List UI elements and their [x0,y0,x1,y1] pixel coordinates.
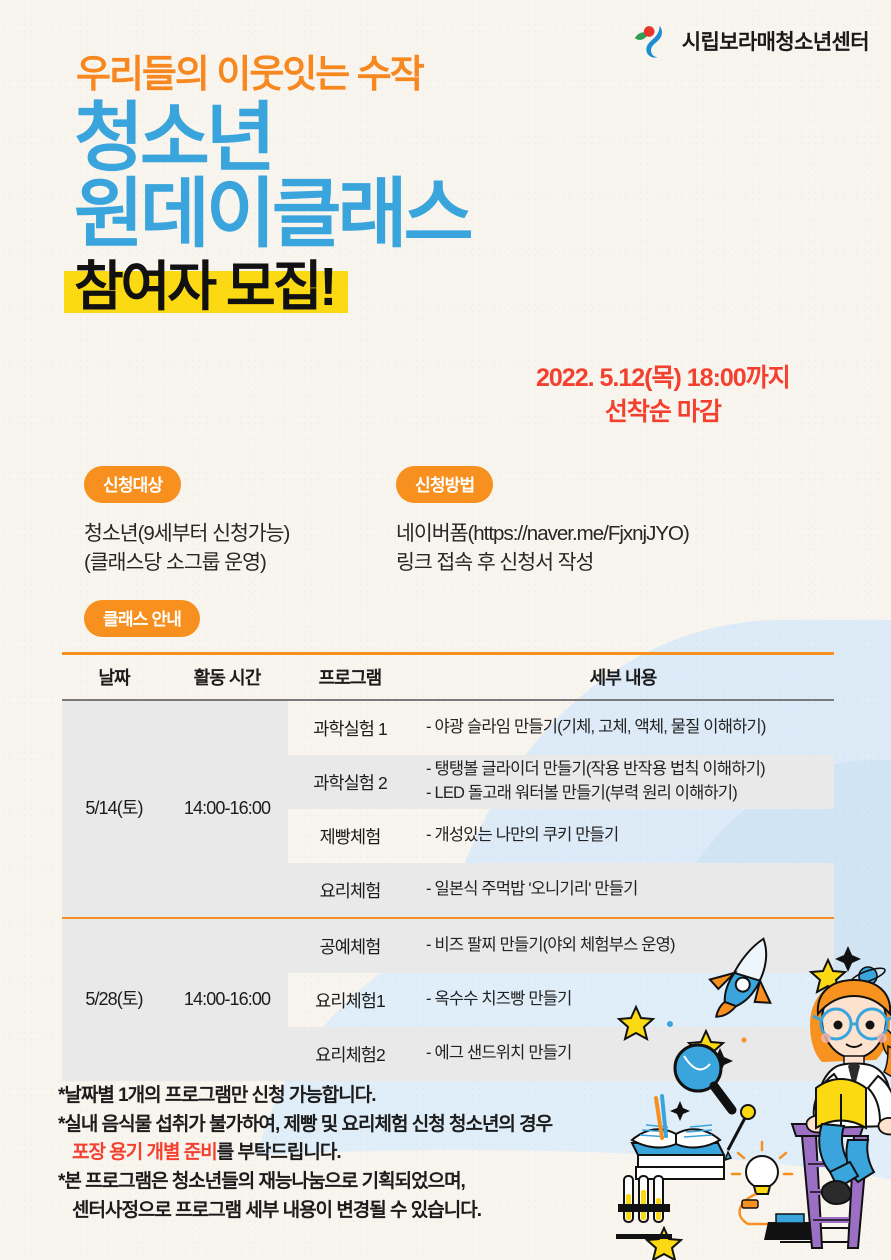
footnote-list: *날짜별 1개의 프로그램만 신청 가능합니다.*실내 음식물 섭취가 불가하여… [58,1082,552,1226]
badge-class-guide: 클래스 안내 [84,600,200,637]
badge-application-target: 신청대상 [84,466,181,503]
footnote-item: *본 프로그램은 청소년들의 재능나눔으로 기획되었으며, [58,1168,552,1196]
schedule-rows: 과학실험 1- 야광 슬라임 만들기(기체, 고체, 액체, 물질 이해하기)과… [288,701,834,917]
application-target-line-2: (클래스당 소그룹 운영) [84,548,396,577]
application-form-link[interactable]: 네이버폼(https://naver.me/FjxnjJYO) [396,519,689,548]
hero-title-line-1: 청소년 [74,102,470,176]
cell-detail: - 야광 슬라임 만들기(기체, 고체, 액체, 물질 이해하기) [412,716,834,740]
cell-program: 요리체험1 [288,988,412,1013]
detail-line: - LED 돌고래 워터볼 만들기(부력 원리 이해하기) [426,782,834,806]
open-book-icon [632,1096,720,1147]
column-header-detail: 세부 내용 [412,664,834,690]
footnote-item: *실내 음식물 섭취가 불가하여, 제빵 및 요리체험 신청 청소년의 경우 [58,1111,552,1139]
cell-time: 14:00-16:00 [166,798,288,820]
detail-line: - 일본식 주먹밥 '오니기리' 만들기 [426,878,834,902]
cell-program: 과학실험 1 [288,716,412,741]
cell-program: 요리체험2 [288,1042,412,1067]
cell-time: 14:00-16:00 [166,989,288,1011]
cell-detail: - 일본식 주먹밥 '오니기리' 만들기 [412,878,834,902]
application-info: 신청대상 청소년(9세부터 신청가능) (클래스당 소그룹 운영) 신청방법 네… [84,466,874,577]
hero-heading: 우리들의 이웃잇는 수작 청소년 원데이클래스 참여자 모집! [74,56,470,316]
detail-line: - 야광 슬라임 만들기(기체, 고체, 액체, 물질 이해하기) [426,716,834,740]
boramae-youth-center-logo-icon [631,22,673,60]
hero-tagline: 우리들의 이웃잇는 수작 [76,56,470,94]
cell-program: 제빵체험 [288,824,412,849]
column-header-time: 활동 시간 [166,664,288,690]
recruit-highlight-wrap: 참여자 모집! [74,259,334,316]
table-row: 제빵체험- 개성있는 나만의 쿠키 만들기 [288,809,834,863]
dot-decoration [742,1038,747,1043]
footnote-item: 센터사정으로 프로그램 세부 내용이 변경될 수 있습니다. [58,1197,552,1225]
cell-date: 5/28(토) [62,989,166,1011]
schedule-group-datetime: 5/14(토)14:00-16:00 [62,701,288,917]
brand-name: 시립보라매청소년센터 [682,26,869,56]
application-method-block: 신청방법 네이버폼(https://naver.me/FjxnjJYO) 링크 … [396,466,689,577]
class-guide-header: 클래스 안내 [84,600,200,637]
deadline-block: 2022. 5.12(목) 18:00까지 선착순 마감 [536,362,790,430]
poster-canvas: 시립보라매청소년센터 우리들의 이웃잇는 수작 청소년 원데이클래스 참여자 모… [0,0,891,1260]
cell-program: 요리체험 [288,878,412,903]
brand-logo: 시립보라매청소년센터 [631,22,869,60]
cell-detail: - 탱탱볼 글라이더 만들기(작용 반작용 법칙 이해하기)- LED 돌고래 … [412,758,834,806]
hero-title-line-2: 원데이클래스 [74,178,470,252]
application-target-line-1: 청소년(9세부터 신청가능) [84,519,396,548]
schedule-group-datetime: 5/28(토)14:00-16:00 [62,919,288,1081]
detail-line: - 탱탱볼 글라이더 만들기(작용 반작용 법칙 이해하기) [426,758,834,782]
table-row: 과학실험 1- 야광 슬라임 만들기(기체, 고체, 액체, 물질 이해하기) [288,701,834,755]
application-target-block: 신청대상 청소년(9세부터 신청가능) (클래스당 소그룹 운영) [84,466,396,577]
table-row: 요리체험- 일본식 주먹밥 '오니기리' 만들기 [288,863,834,917]
cell-date: 5/14(토) [62,798,166,820]
cell-program: 과학실험 2 [288,770,412,795]
badge-application-method: 신청방법 [396,466,493,503]
table-row: 과학실험 2- 탱탱볼 글라이더 만들기(작용 반작용 법칙 이해하기)- LE… [288,755,834,809]
recruit-text: 참여자 모집! [74,259,334,316]
deadline-line-2: 선착순 마감 [536,396,790,430]
table-header-row: 날짜 활동 시간 프로그램 세부 내용 [62,652,834,701]
girl-scientist-figure [807,980,891,1204]
schedule-group: 5/14(토)14:00-16:00과학실험 1- 야광 슬라임 만들기(기체,… [62,701,834,917]
deadline-line-1: 2022. 5.12(목) 18:00까지 [536,364,790,392]
stacked-books-icon [632,1143,724,1179]
cell-program: 공예체험 [288,934,412,959]
lightbulb-icon [732,1142,802,1224]
footnote-item: *날짜별 1개의 프로그램만 신청 가능합니다. [58,1082,552,1110]
dot-decoration [667,1021,673,1027]
girl-scientist-illustration [596,928,891,1260]
footnote-item: 포장 용기 개별 준비를 부탁드립니다. [58,1139,552,1167]
rocket-icon [695,928,796,1037]
footnote-highlight: 포장 용기 개별 준비 [72,1142,217,1163]
application-method-line-2: 링크 접속 후 신청서 작성 [396,548,689,577]
detail-line: - 개성있는 나만의 쿠키 만들기 [426,824,834,848]
cell-detail: - 개성있는 나만의 쿠키 만들기 [412,824,834,848]
application-target-body: 청소년(9세부터 신청가능) (클래스당 소그룹 운영) [84,519,396,577]
column-header-program: 프로그램 [288,664,412,690]
application-method-body: 네이버폼(https://naver.me/FjxnjJYO) 링크 접속 후 … [396,519,689,577]
column-header-date: 날짜 [62,664,166,690]
magnifier-icon [675,1045,732,1110]
